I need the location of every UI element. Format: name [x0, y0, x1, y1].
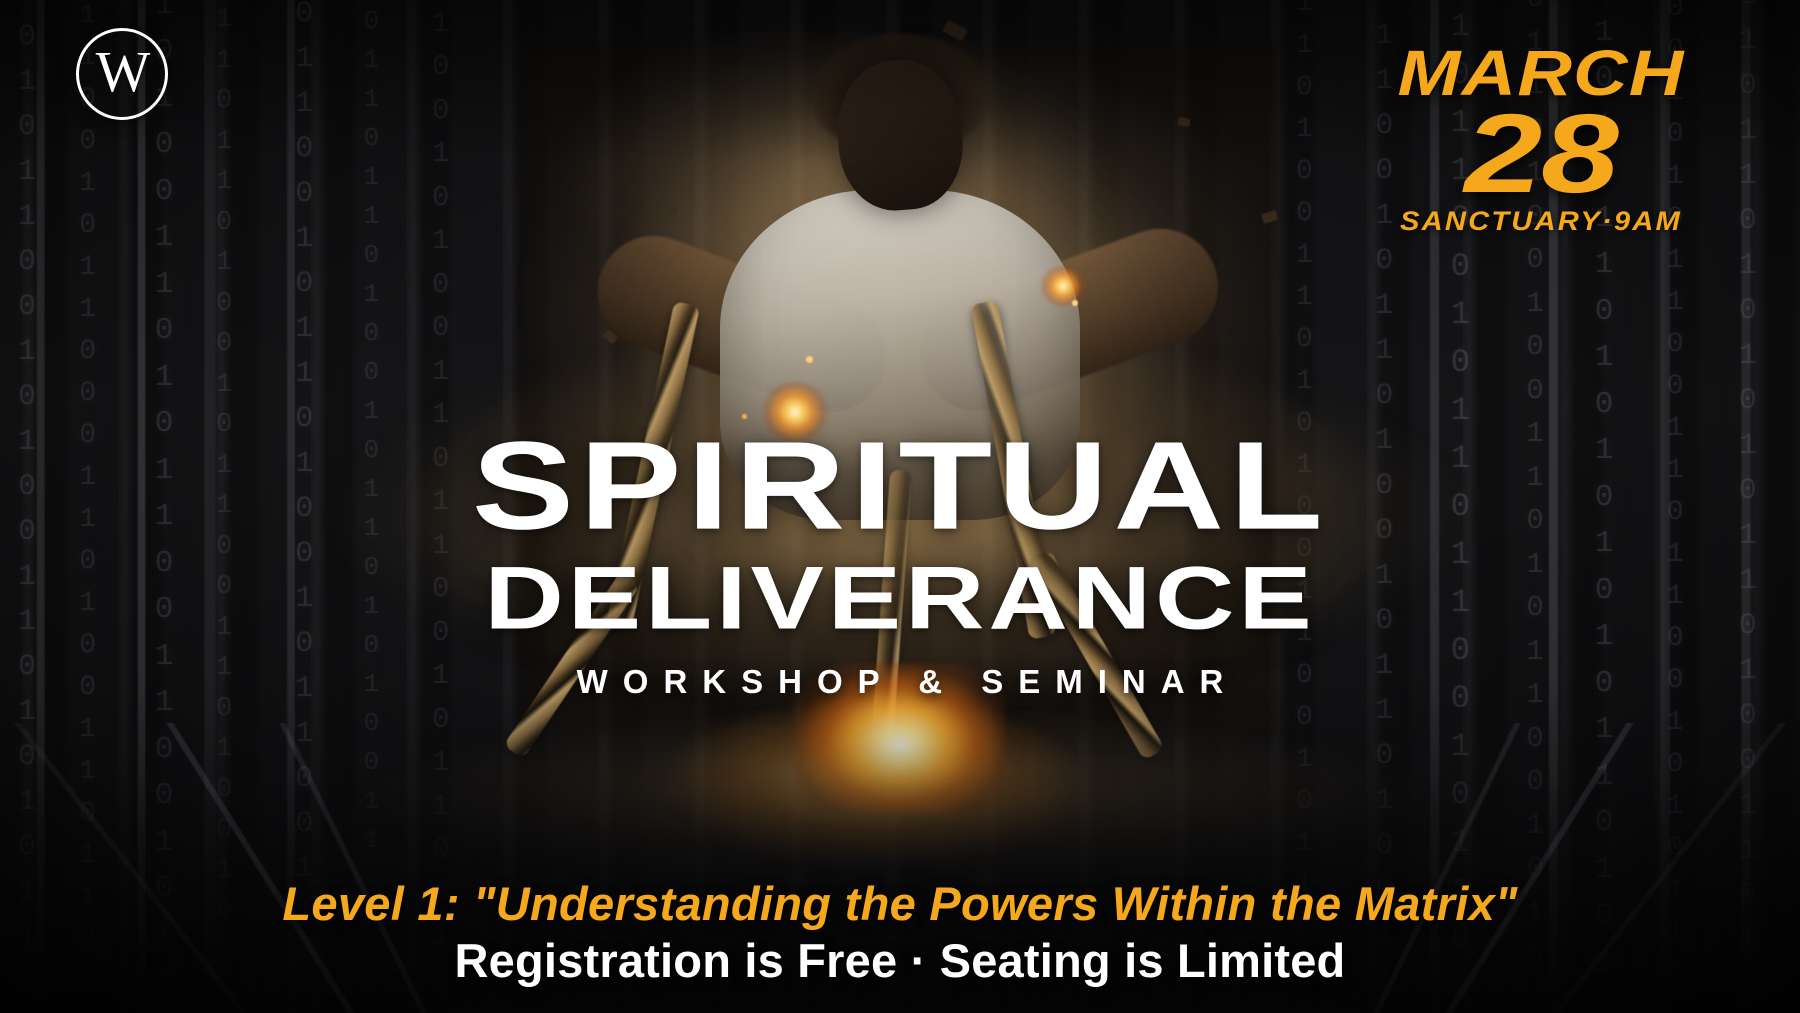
event-level-description: Level 1: "Understanding the Powers Withi… — [0, 877, 1800, 931]
event-registration-note: Registration is Free · Seating is Limite… — [0, 934, 1800, 989]
event-title-block: SPIRITUAL DELIVERANCE WORKSHOP & SEMINAR — [0, 430, 1800, 698]
event-day: 28 — [1260, 105, 1800, 204]
poster-content: W MARCH 28 SANCTUARY·9AM SPIRITUAL DELIV… — [0, 0, 1800, 1013]
page-title: SPIRITUAL — [0, 430, 1800, 543]
event-type-label: WORKSHOP & SEMINAR — [0, 665, 1800, 698]
event-poster: 1 0 1 0 1 1 0 0 1 0 1 0 0 1 1 0 1 0 1 0 … — [0, 0, 1800, 1013]
event-location-time: SANCTUARY·9AM — [1298, 208, 1784, 235]
brand-logo[interactable]: W — [76, 28, 168, 120]
circle-w-monogram-icon: W — [96, 43, 149, 101]
event-footer-block: Level 1: "Understanding the Powers Withi… — [0, 877, 1800, 989]
page-subtitle: DELIVERANCE — [0, 558, 1800, 640]
event-date-block: MARCH 28 SANCTUARY·9AM — [1316, 44, 1766, 235]
